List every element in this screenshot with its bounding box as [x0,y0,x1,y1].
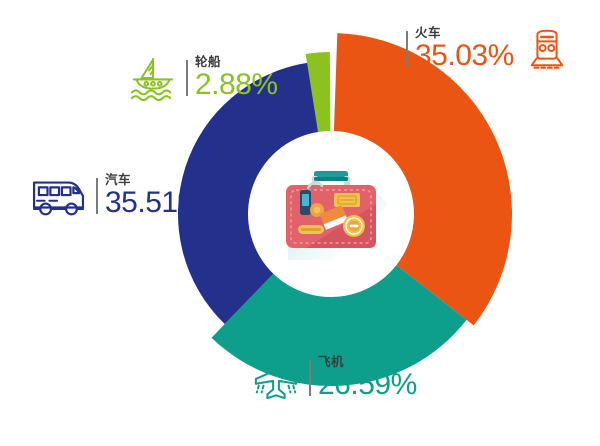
luggage-tag-window [302,194,309,206]
bus-icon [28,170,90,222]
label-train-text: 火车 35.03% [406,26,514,72]
infographic-canvas: 火车 35.03% [0,0,600,446]
suitcase-icon [272,158,390,270]
label-ship-text: 轮船 2.88% [186,55,278,101]
label-train[interactable]: 火车 35.03% [406,24,574,74]
label-ship-category: 轮船 [195,55,278,69]
label-bus-text: 汽车 35.51% [96,173,204,219]
sticker-rosette-bar [350,225,359,228]
label-airplane-category: 飞机 [318,355,417,369]
center-suitcase-illustration [272,158,390,270]
label-bus[interactable]: 汽车 35.51% [28,170,204,222]
train-icon [520,24,574,74]
suitcase-handle-bar [314,171,348,178]
label-airplane[interactable]: 飞机 26.59% [249,353,417,403]
label-bus-category: 汽车 [105,173,204,187]
sticker-bar-yellow-inner [301,228,321,231]
label-airplane-percent: 26.59% [318,369,417,401]
label-ship[interactable]: 轮船 2.88% [126,53,278,103]
sticker-round-orange-inner [314,207,321,214]
label-bus-percent: 35.51% [105,187,204,219]
label-airplane-text: 飞机 26.59% [309,355,417,401]
suitcase-handle-shadow [314,177,348,181]
label-ship-percent: 2.88% [195,69,278,101]
label-train-category: 火车 [415,26,514,40]
airplane-icon [249,353,303,403]
ship-icon [126,53,180,103]
sticker-rosette-group [343,215,365,237]
label-train-percent: 35.03% [415,40,514,72]
